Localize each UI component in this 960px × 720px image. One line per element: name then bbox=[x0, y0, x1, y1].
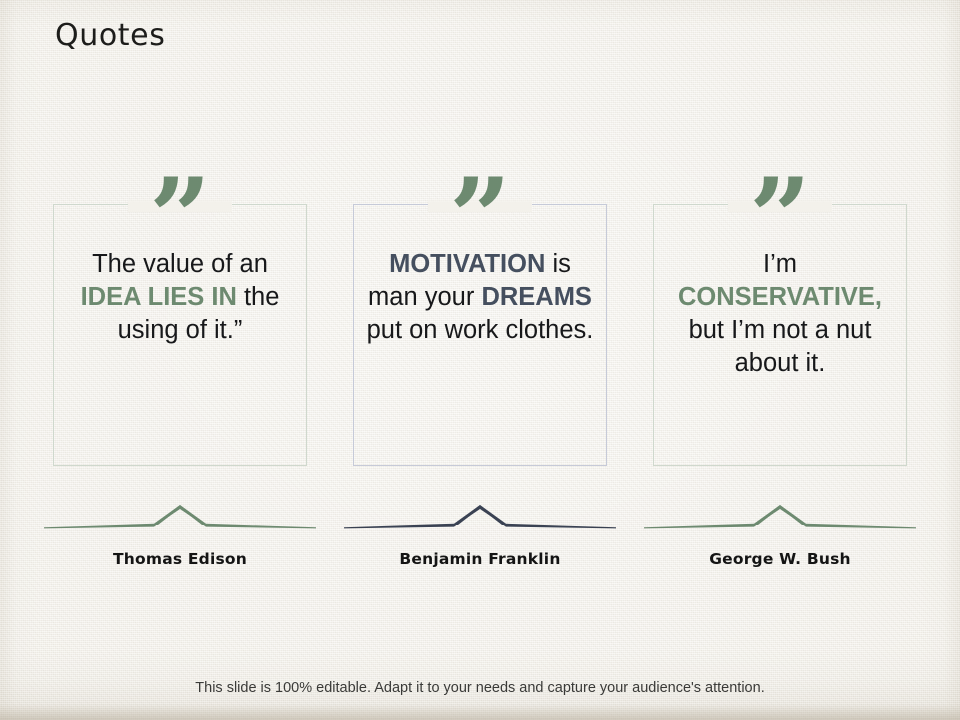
quote-column: ”The value of an IDEA LIES IN the using … bbox=[50, 176, 310, 568]
quotation-mark-icon: ” bbox=[749, 164, 811, 272]
quotation-mark-icon: ” bbox=[449, 164, 511, 272]
quote-highlight: DREAMS bbox=[481, 283, 592, 311]
slide-canvas: Quotes ”The value of an IDEA LIES IN the… bbox=[0, 0, 960, 720]
quote-highlight: IDEA LIES IN bbox=[81, 283, 237, 311]
footer-note: This slide is 100% editable. Adapt it to… bbox=[0, 680, 960, 696]
page-title: Quotes bbox=[55, 18, 165, 53]
quote-author: George W. Bush bbox=[709, 550, 851, 568]
bottom-edge-shade bbox=[0, 704, 960, 720]
divider-ornament bbox=[644, 500, 916, 534]
divider-ornament bbox=[344, 500, 616, 534]
quote-author: Thomas Edison bbox=[113, 550, 247, 568]
quote-author: Benjamin Franklin bbox=[399, 550, 560, 568]
quote-plain: but I’m not a nut about it. bbox=[689, 316, 872, 377]
quote-card[interactable]: ”MOTIVATION is man your DREAMS put on wo… bbox=[350, 176, 610, 466]
quote-card[interactable]: ”I’m CONSERVATIVE, but I’m not a nut abo… bbox=[650, 176, 910, 466]
quote-plain: put on work clothes. bbox=[367, 316, 594, 344]
quotation-mark-icon: ” bbox=[149, 164, 211, 272]
quote-highlight: CONSERVATIVE, bbox=[678, 283, 882, 311]
divider-ornament bbox=[44, 500, 316, 534]
quote-column: ”I’m CONSERVATIVE, but I’m not a nut abo… bbox=[650, 176, 910, 568]
quote-columns: ”The value of an IDEA LIES IN the using … bbox=[0, 176, 960, 568]
quote-card[interactable]: ”The value of an IDEA LIES IN the using … bbox=[50, 176, 310, 466]
quote-column: ”MOTIVATION is man your DREAMS put on wo… bbox=[350, 176, 610, 568]
